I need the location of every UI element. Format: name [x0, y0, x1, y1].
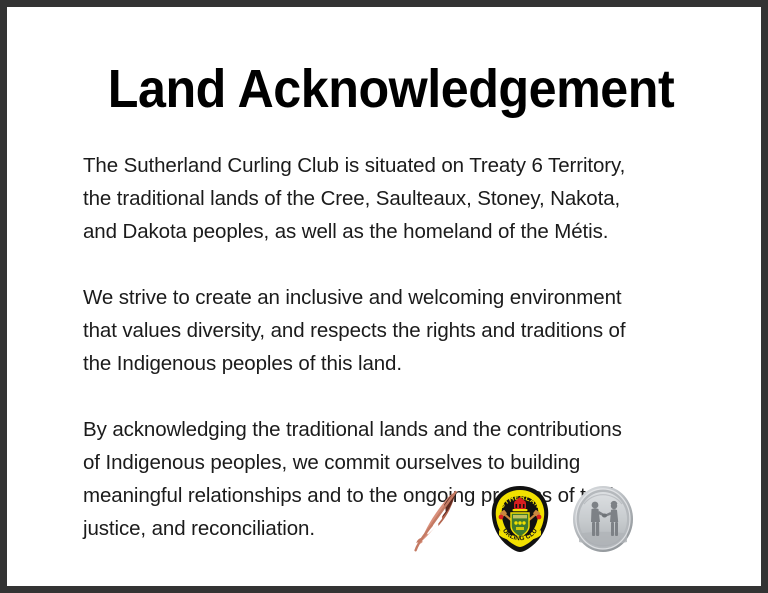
paragraph-1: The Sutherland Curling Club is situated … [83, 149, 723, 248]
logo-row: SUTHERLAND [407, 481, 657, 557]
land-acknowledgement-slide: Land Acknowledgement The Sutherland Curl… [0, 0, 768, 593]
sutherland-curling-club-crest-icon: SUTHERLAND [487, 484, 553, 554]
treaty-six-medal-icon [571, 484, 635, 554]
feather-icon [407, 483, 469, 555]
paragraph-2: We strive to create an inclusive and wel… [83, 281, 723, 380]
slide-content: Land Acknowledgement The Sutherland Curl… [7, 7, 761, 586]
page-title: Land Acknowledgement [34, 59, 748, 119]
